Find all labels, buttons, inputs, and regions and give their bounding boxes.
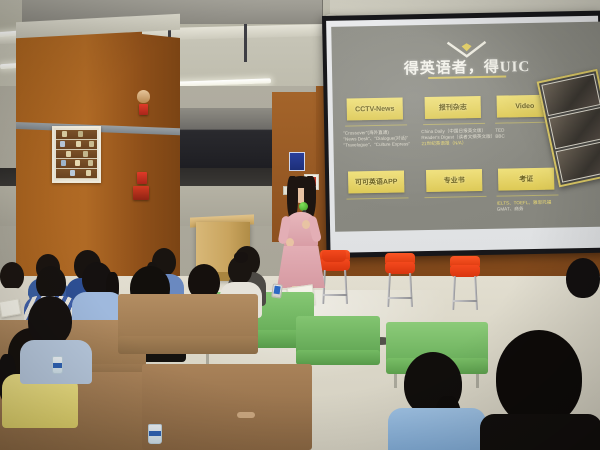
water-bottle: [52, 356, 63, 374]
fire-alarm-box-upper: [139, 104, 148, 115]
chair-tan-2: [118, 294, 258, 372]
attendee-sandal: [237, 412, 255, 418]
slide-card-rule-6: [496, 194, 558, 196]
presenter-skirt: [277, 246, 325, 288]
board-shelf-3: [56, 150, 97, 160]
attendee-head: [496, 330, 582, 426]
stool-rung: [388, 297, 412, 299]
presenter-hand-right: [302, 220, 310, 229]
projection-screen: 得英语者，得UIC CCTV-News 报刊杂志 Video "Crossove…: [322, 11, 600, 258]
water-bottle-2: [148, 424, 162, 444]
presenter-hair-top: [289, 176, 313, 188]
attendee-head: [36, 266, 66, 300]
lecture-photo: 得英语者，得UIC CCTV-News 报刊杂志 Video "Crossove…: [0, 0, 600, 450]
presentation-slide: 得英语者，得UIC CCTV-News 报刊杂志 Video "Crossove…: [331, 22, 600, 232]
slide-bullets-cctv: "Crossover"(海外直通) "News Desk"、"Dialogue(…: [343, 129, 410, 149]
attendee-phone-2: [271, 283, 283, 298]
slide-card-rule-1: [345, 124, 407, 126]
attendee-bun: [234, 252, 248, 263]
presenter-hand-left: [286, 238, 294, 247]
slide-card-cctv: CCTV-News: [347, 97, 403, 120]
bullet-exam-2: GMAT、商务: [497, 206, 552, 213]
stool-rung: [453, 300, 477, 302]
fire-bell-icon: [137, 90, 150, 103]
slide-card-books: 专业书: [426, 169, 482, 192]
notice-display-board: [52, 126, 101, 183]
board-shelf-4: [56, 159, 97, 169]
attendee-head: [28, 296, 72, 346]
column-side-face: [142, 34, 180, 282]
board-shelf-2: [56, 140, 97, 150]
window-mullion-3: [244, 24, 247, 62]
window-blind-4: [248, 0, 323, 24]
chair-arm: [118, 336, 258, 354]
wayfinding-sign: [289, 152, 305, 171]
slide-card-rule-5: [424, 196, 486, 198]
chair-arm: [296, 350, 380, 365]
bullet-video-2: BBC: [495, 134, 505, 140]
slide-card-app: 可可英语APP: [348, 170, 404, 193]
slide-bullets-press: China Daily（中国日报英文版） Reader's Digest（读者文…: [421, 128, 495, 148]
board-shelf-1: [56, 130, 97, 140]
board-shelf-5: [56, 169, 97, 179]
slide-card-rule-2: [423, 123, 485, 125]
attendee-body: [388, 408, 486, 450]
slide-bullets-video: TED BBC: [495, 128, 505, 141]
chair-tan-4: [142, 364, 312, 450]
slide-title-rule: [428, 75, 506, 78]
slide-bullets-exam: IELTS、TOEFL、雅思托福 GMAT、商务: [497, 200, 552, 213]
chair-leg: [476, 374, 479, 388]
window-blind-3: [172, 0, 249, 24]
screen-surface: 得英语者，得UIC CCTV-News 报刊杂志 Video "Crossove…: [326, 16, 600, 253]
fire-alarm-box-lower: [137, 172, 147, 184]
bullet-press-3: 21世纪英语报（N/A）: [421, 140, 495, 148]
chair-back: [142, 364, 312, 450]
chair-leg: [394, 374, 397, 388]
attendee-head: [566, 258, 600, 298]
attendee-body: [480, 414, 600, 450]
attendee-head: [0, 262, 24, 290]
slide-card-rule-4: [347, 197, 409, 199]
slide-card-exams: 考证: [498, 168, 554, 191]
bullet-cctv-3: "Travelogue"、"Culture Express": [343, 142, 410, 149]
slide-card-press: 报刊杂志: [425, 96, 481, 119]
fire-hose-cabinet: [133, 186, 149, 200]
